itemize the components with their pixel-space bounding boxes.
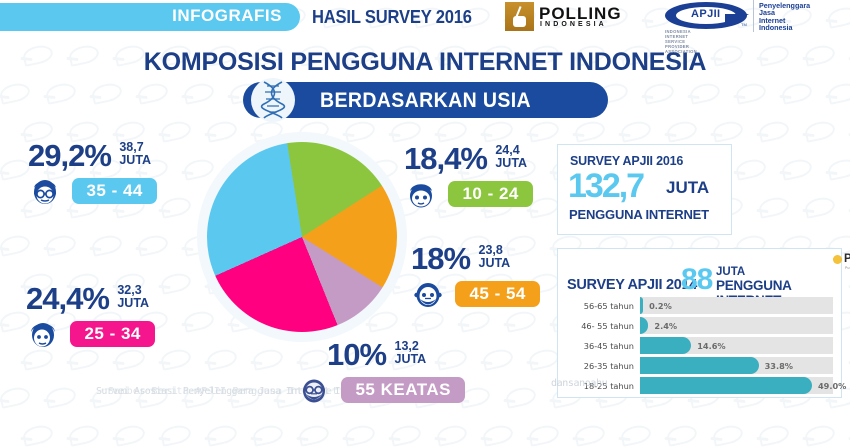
bar-value: 33.8% [765, 361, 793, 371]
bar-track: 0.2% [640, 297, 833, 314]
bar-fill [640, 317, 648, 334]
face-young-icon [26, 317, 60, 351]
bar-track: 2.4% [640, 317, 833, 334]
survey-2014-value: 88 [681, 265, 712, 295]
bar-value: 49.0% [818, 381, 846, 391]
dna-icon [251, 78, 295, 122]
face-glasses-icon [28, 174, 62, 208]
stat-unit-35-44: JUTA [119, 153, 151, 167]
bar-row: 26-35 tahun33.8% [566, 357, 833, 376]
stat-number-45-54: 23,8 JUTA [479, 244, 511, 269]
polling-mark-icon [505, 2, 534, 31]
age-pill-55-keatas: 55 KEATAS [341, 377, 465, 403]
stat-number-35-44: 38,7 JUTA [119, 141, 151, 166]
bar-row: 56-65 tahun0.2% [566, 297, 833, 316]
age-pill-25-34: 25 - 34 [70, 321, 154, 347]
stat-block-10-24: 18,4% 24,4 JUTA 10 - 24 [404, 143, 533, 211]
stat-number-25-34: 32,3 JUTA [117, 284, 149, 309]
stat-unit-10-24: JUTA [495, 156, 527, 170]
bar-fill [640, 297, 643, 314]
bar-track: 49.0% [640, 377, 833, 394]
survey-title-label: HASIL SURVEY 2016 [312, 7, 472, 28]
stat-percent-45-54: 18% [411, 243, 470, 275]
apjii-acronym: APJII [691, 8, 721, 20]
face-beard-icon [411, 277, 445, 311]
survey-2016-panel: SURVEY APJII 2016 132,7 JUTA PENGGUNA IN… [557, 144, 732, 235]
bar-fill [640, 357, 759, 374]
bar-label: 36-45 tahun [566, 341, 634, 351]
stat-percent-10-24: 18,4% [404, 143, 487, 175]
stat-unit-25-34: JUTA [117, 296, 149, 310]
page-title: KOMPOSISI PENGGUNA INTERNET INDONESIA [0, 48, 850, 77]
face-child-icon [404, 177, 438, 211]
stat-percent-25-34: 24,4% [26, 283, 109, 315]
survey-2014-panel: PUSKAKOM Pusat Kajian Komunikasi Univers… [557, 248, 842, 398]
subtitle-label: BERDASARKAN USIA [256, 89, 595, 113]
bar-label: 26-35 tahun [566, 361, 634, 371]
subtitle-pill: BERDASARKAN USIA [243, 82, 608, 118]
bar-value: 14.6% [697, 341, 725, 351]
stat-percent-35-44: 29,2% [28, 140, 111, 172]
stat-block-35-44: 29,2% 38,7 JUTA 35 - 44 [28, 140, 157, 208]
stat-number-55-keatas: 13,2 JUTA [395, 340, 427, 365]
stat-block-25-34: 24,4% 32,3 JUTA 25 - 34 [26, 283, 155, 351]
bar-label: 56-65 tahun [566, 301, 634, 311]
survey-2014-unit: JUTA [716, 266, 745, 279]
bar-value: 2.4% [654, 321, 677, 331]
stat-block-55-keatas: 10% 13,2 JUTA 55 KEATAS [327, 339, 465, 407]
bar-track: 33.8% [640, 357, 833, 374]
stat-number-10-24: 24,4 JUTA [495, 144, 527, 169]
survey-2016-value: 132,7 [568, 169, 643, 203]
puskakom-tagline: Pusat Kajian Komunikasi Universitas Indo… [845, 266, 850, 270]
age-pill-35-44: 35 - 44 [72, 178, 156, 204]
stat-percent-55-keatas: 10% [327, 339, 386, 371]
stat-unit-45-54: JUTA [479, 256, 511, 270]
apjii-line-4: Indonesia [759, 24, 810, 32]
bar-track: 14.6% [640, 337, 833, 354]
age-pill-10-24: 10 - 24 [448, 181, 532, 207]
survey-2014-title: SURVEY APJII 2014 [567, 277, 697, 293]
stat-block-45-54: 18% 23,8 JUTA 45 - 54 [411, 243, 540, 311]
bar-fill [640, 377, 812, 394]
bar-fill [640, 337, 691, 354]
apjii-tm-mark: TM [741, 22, 747, 27]
bar-row: 36-45 tahun14.6% [566, 337, 833, 356]
header-bar: INFOGRAFIS HASIL SURVEY 2016 POLLING IND… [0, 0, 850, 34]
survey-2016-caption: PENGGUNA INTERNET [569, 207, 709, 222]
face-elder-icon [297, 373, 331, 407]
puskakom-logo-name: PUSKAKOM [844, 253, 850, 265]
bar-value: 0.2% [649, 301, 672, 311]
bar-row: 46- 55 tahun2.4% [566, 317, 833, 336]
pie-chart [197, 132, 407, 342]
bar-label: 46- 55 tahun [566, 321, 634, 331]
polling-logo-sub: INDONESIA [540, 21, 607, 28]
infografis-pill: INFOGRAFIS [0, 3, 300, 31]
infografis-label: INFOGRAFIS [172, 6, 282, 26]
survey-2016-title: SURVEY APJII 2016 [570, 154, 683, 168]
age-pill-45-54: 45 - 54 [455, 281, 539, 307]
pie-slices [207, 142, 397, 332]
apjii-fullname: Asosiasi Penyelenggara Jasa Internet Ind… [753, 0, 810, 32]
survey-2016-unit: JUTA [666, 178, 709, 198]
puskakom-sun-icon [833, 255, 842, 264]
stat-unit-55-keatas: JUTA [395, 352, 427, 366]
footer-watermark-c: dansanoahu [551, 378, 607, 389]
